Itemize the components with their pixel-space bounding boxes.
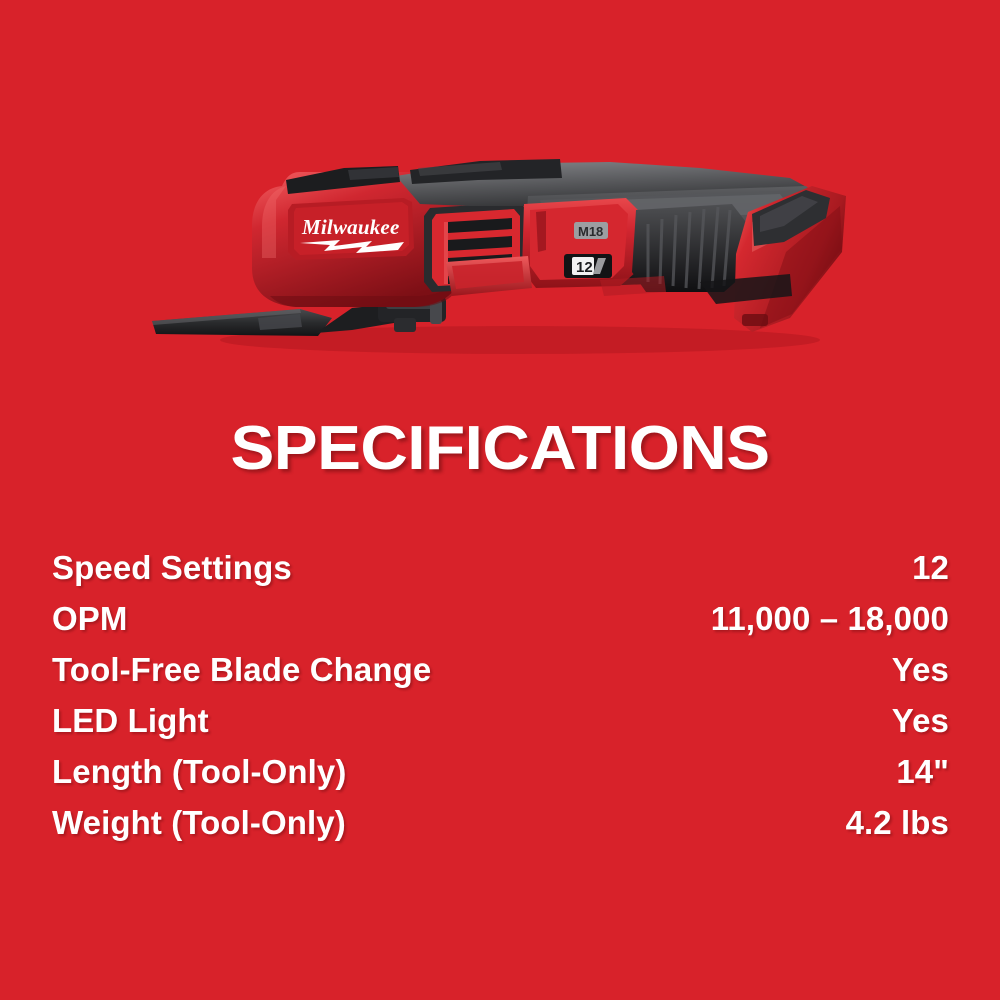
speed-dial[interactable]: 12: [564, 254, 612, 278]
spec-value: 14": [896, 746, 949, 797]
spec-value: Yes: [892, 695, 949, 746]
spec-value: 4.2 lbs: [846, 797, 949, 848]
table-row: Length (Tool-Only) 14": [52, 746, 949, 797]
product-image-multi-tool: Milwaukee: [0, 0, 1000, 400]
spec-value: Yes: [892, 644, 949, 695]
m18-badge-label: M18: [578, 224, 603, 239]
specifications-page: Milwaukee: [0, 0, 1000, 1000]
multi-tool-illustration: Milwaukee: [0, 0, 1000, 400]
table-row: OPM 11,000 – 18,000: [52, 593, 949, 644]
table-row: Tool-Free Blade Change Yes: [52, 644, 949, 695]
specifications-table: Speed Settings 12 OPM 11,000 – 18,000 To…: [52, 542, 949, 848]
table-row: Weight (Tool-Only) 4.2 lbs: [52, 797, 949, 848]
mid-red-panel: M18 12: [522, 198, 640, 288]
milwaukee-wordmark: Milwaukee: [301, 215, 399, 239]
speed-dial-value: 12: [576, 259, 593, 276]
spec-label: Speed Settings: [52, 542, 292, 593]
spec-label: LED Light: [52, 695, 209, 746]
spec-value: 12: [912, 542, 949, 593]
spec-label: OPM: [52, 593, 127, 644]
page-title: SPECIFICATIONS: [0, 414, 1000, 484]
spec-label: Weight (Tool-Only): [52, 797, 346, 848]
m18-badge: M18: [574, 222, 608, 239]
spec-label: Tool-Free Blade Change: [52, 644, 431, 695]
table-row: Speed Settings 12: [52, 542, 949, 593]
spec-label: Length (Tool-Only): [52, 746, 346, 797]
saw-blade: [152, 309, 332, 336]
spec-value: 11,000 – 18,000: [711, 593, 949, 644]
brand-logo-plate: Milwaukee: [288, 198, 414, 260]
table-row: LED Light Yes: [52, 695, 949, 746]
